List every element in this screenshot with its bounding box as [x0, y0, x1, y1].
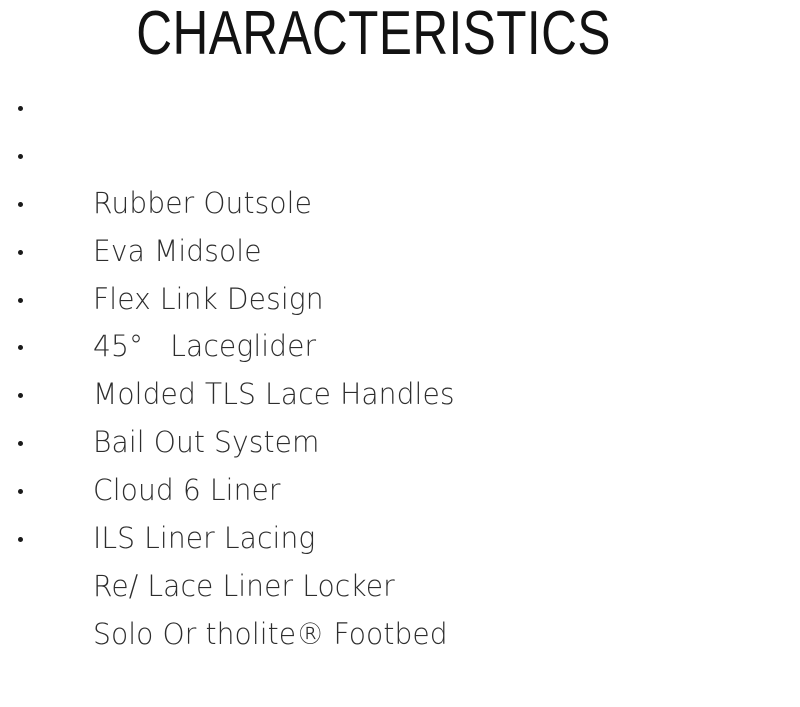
list-item: ILS Liner Lacing: [18, 419, 778, 467]
characteristics-list: Rubber Outsole Eva Midsole Flex Link Des…: [18, 84, 778, 563]
bullet-icon: [18, 298, 23, 303]
list-item: Cloud 6 Liner: [18, 371, 778, 419]
bullet-icon: [18, 489, 23, 494]
bullet-icon: [18, 345, 23, 350]
bullet-icon: [18, 202, 23, 207]
bullet-icon: [18, 106, 23, 111]
list-item: Eva Midsole: [18, 132, 778, 180]
bullet-icon: [18, 250, 23, 255]
list-item: Rubber Outsole: [18, 84, 778, 132]
bullet-icon: [18, 393, 23, 398]
list-item: Bail Out System: [18, 323, 778, 371]
title-container: CHARACTERISTICS: [0, 2, 748, 66]
list-item-label: Re/ Lace Liner Locker: [93, 563, 395, 611]
list-item: Re/ Lace Liner Locker: [18, 467, 778, 515]
page-title: CHARACTERISTICS: [137, 2, 611, 66]
characteristics-slide: CHARACTERISTICS Rubber Outsole Eva Midso…: [0, 0, 800, 626]
bullet-icon: [18, 441, 23, 446]
bullet-icon: [18, 154, 23, 159]
bullet-icon: [18, 537, 23, 542]
list-item: Flex Link Design: [18, 180, 778, 228]
list-item-label: Solo Or tholite® Footbed: [93, 611, 448, 659]
list-item: Molded TLS Lace Handles: [18, 276, 778, 324]
list-item: 45° Laceglider: [18, 228, 778, 276]
list-item: Solo Or tholite® Footbed: [18, 515, 778, 563]
